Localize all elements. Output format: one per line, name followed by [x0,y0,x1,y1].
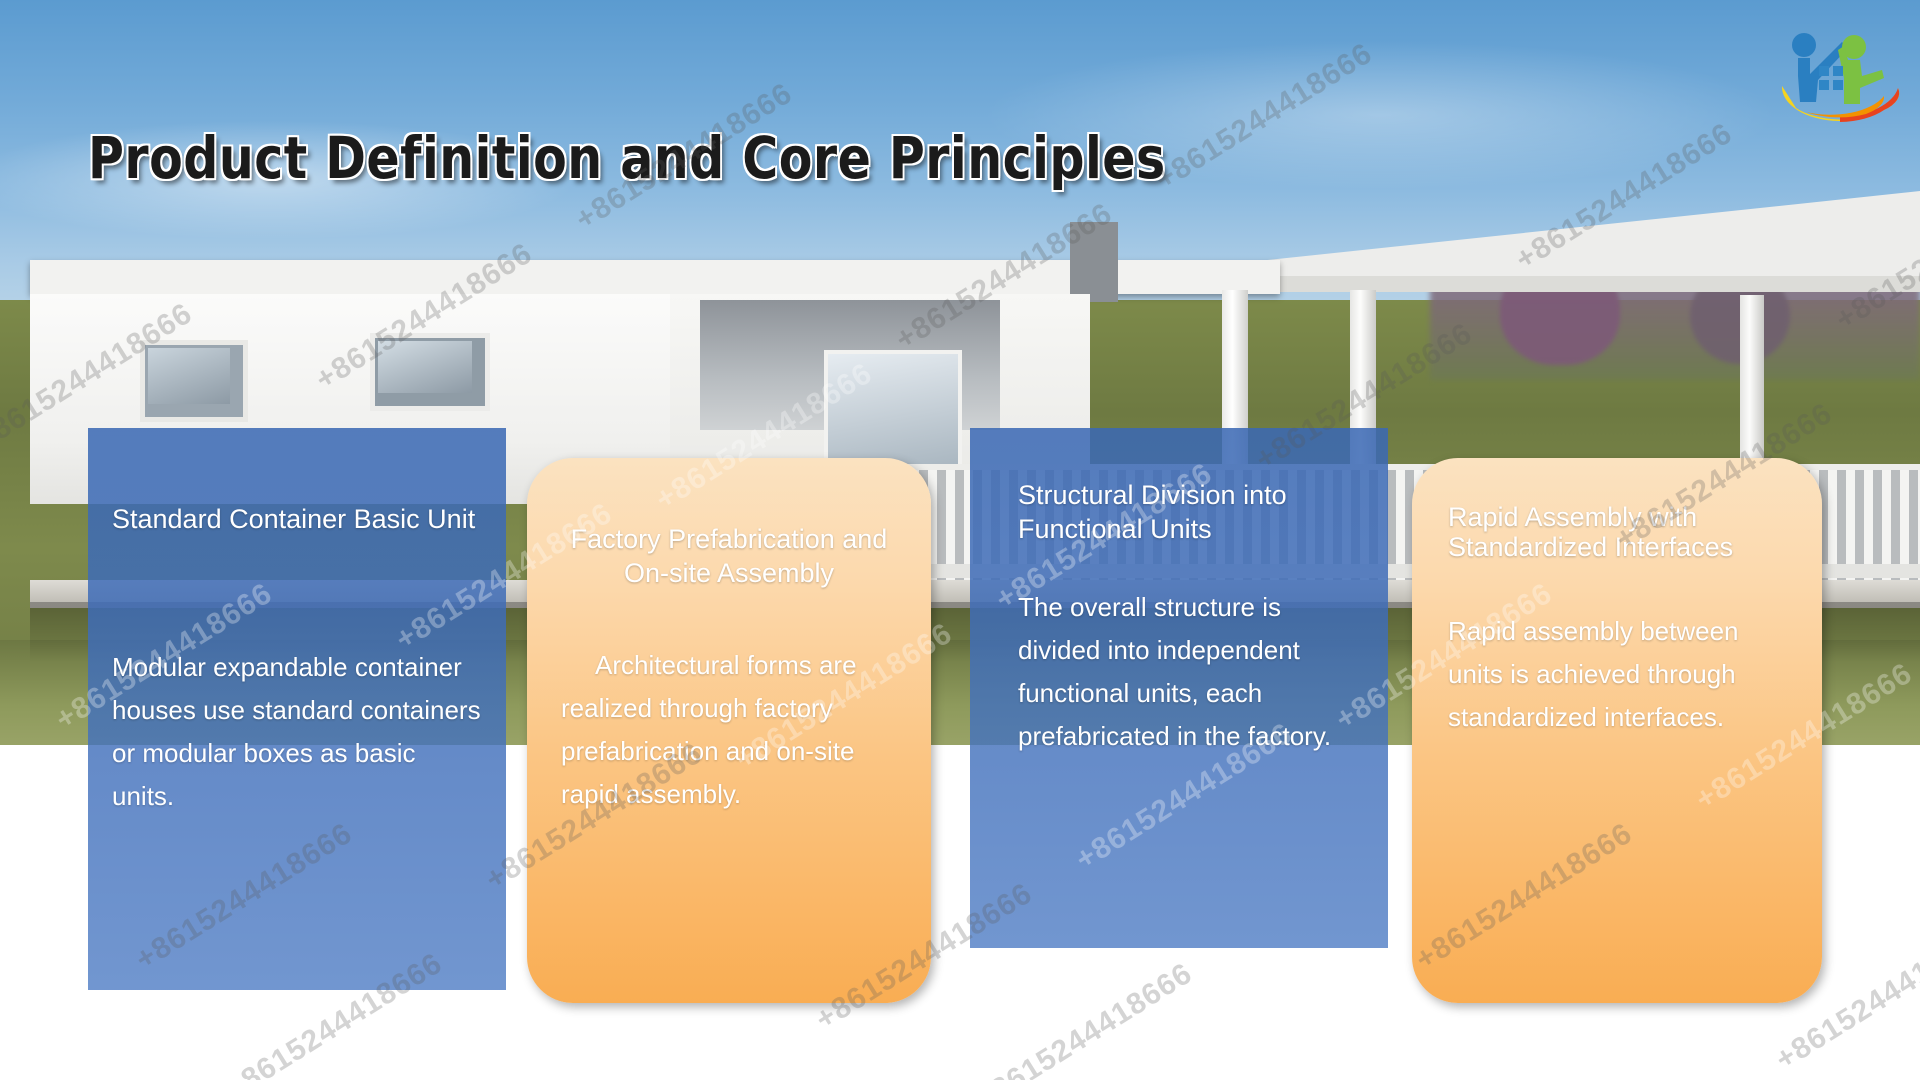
card-factory-prefabrication-and-on-site-assembly[interactable]: Factory Prefabrication and On-site Assem… [527,458,931,1003]
logo-window-pane-3 [1819,80,1829,90]
card-body: Modular expandable container houses use … [88,646,506,818]
sliding-door [824,350,962,468]
page-title: Product Definition and Core Principles [88,124,1166,192]
card-body: Rapid assembly between units is achieved… [1412,610,1822,739]
card-standard-container-basic-unit[interactable]: Standard Container Basic Unit Modular ex… [88,428,506,990]
card-structural-division-into-functional-units[interactable]: Structural Division into Functional Unit… [970,428,1388,948]
veranda-column-3 [1740,295,1764,480]
window-second-glass [378,341,472,393]
logo-window-pane-2 [1833,66,1843,76]
modular-house-logo [1776,18,1904,128]
card-title: Standard Container Basic Unit [88,502,506,536]
card-body: Architectural forms are realized through… [527,644,931,816]
chimney [1070,222,1118,302]
card-title: Rapid Assembly with Standardized Interfa… [1412,502,1822,562]
card-rapid-assembly-with-standardized-interfaces[interactable]: Rapid Assembly with Standardized Interfa… [1412,458,1822,1003]
logo-window-pane-4 [1833,80,1843,90]
logo-head-left [1792,33,1816,57]
logo-window-pane-1 [1819,66,1829,76]
slide-canvas: Product Definition and Core Principles S… [0,0,1920,1080]
card-body: The overall structure is divided into in… [970,586,1388,758]
card-title: Factory Prefabrication and On-site Assem… [527,522,931,590]
window-left-glass [148,348,230,404]
card-title: Structural Division into Functional Unit… [970,478,1388,546]
